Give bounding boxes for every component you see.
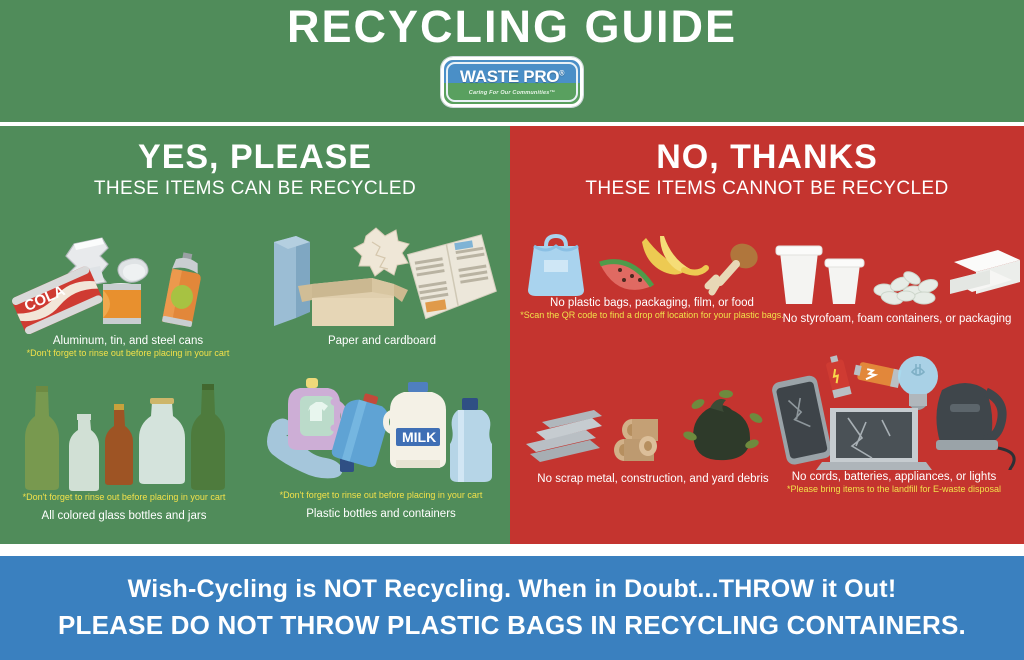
e-waste-note: *Please bring items to the landfill for … xyxy=(766,484,1022,495)
plastic-caption: Plastic bottles and containers xyxy=(256,507,506,521)
yard-waste-bag-icon xyxy=(682,390,764,460)
paper-caption-block: Paper and cardboard xyxy=(262,334,502,348)
plastic-note: *Don't forget to rinse out before placin… xyxy=(256,490,506,501)
tin-can-icon xyxy=(103,258,148,324)
page-title: RECYCLING GUIDE xyxy=(287,4,737,49)
styrofoam-caption: No styrofoam, foam containers, or packag… xyxy=(772,312,1022,326)
bags-food-note: *Scan the QR code to find a drop off loc… xyxy=(516,310,788,321)
crumpled-paper-icon xyxy=(354,228,409,276)
dark-green-bottle-icon xyxy=(191,384,225,490)
plastic-caption-block: *Don't forget to rinse out before placin… xyxy=(256,490,506,522)
glass-caption-block: *Don't forget to rinse out before placin… xyxy=(4,492,244,524)
no-heading: NO, THANKS xyxy=(510,140,1024,176)
banana-peel-icon xyxy=(642,236,706,275)
yes-heading: YES, PLEASE xyxy=(0,140,510,176)
no-item-e-waste: No cords, batteries, appliances, or ligh… xyxy=(766,350,1022,496)
yes-subheading: THESE ITEMS CAN BE RECYCLED xyxy=(0,178,510,200)
cans-note: *Don't forget to rinse out before placin… xyxy=(8,348,248,359)
yes-column-header: YES, PLEASE THESE ITEMS CAN BE RECYCLED xyxy=(0,126,510,200)
main-columns: YES, PLEASE THESE ITEMS CAN BE RECYCLED xyxy=(0,126,1024,544)
column-yes-please: YES, PLEASE THESE ITEMS CAN BE RECYCLED xyxy=(0,126,510,544)
milk-carton-icon xyxy=(274,236,310,326)
logs-icon xyxy=(614,419,658,461)
paper-caption: Paper and cardboard xyxy=(262,334,502,348)
foam-clamshell-icon xyxy=(950,250,1020,294)
battery-red-icon xyxy=(824,354,851,398)
blue-plastic-bottle-icon xyxy=(330,389,394,469)
foam-cup-small-icon xyxy=(825,259,864,304)
no-item-scrap-yard: No scrap metal, construction, and yard d… xyxy=(520,374,786,486)
no-item-bags-food: No plastic bags, packaging, film, or foo… xyxy=(516,230,788,322)
light-bulb-icon xyxy=(898,356,938,410)
scrap-yard-caption-block: No scrap metal, construction, and yard d… xyxy=(520,472,786,486)
newspaper-icon xyxy=(406,234,499,320)
scrap-yard-illustration xyxy=(520,374,786,470)
foam-cup-large-icon xyxy=(776,246,822,304)
watermelon-slice-icon xyxy=(600,262,652,290)
cardboard-box-icon xyxy=(298,278,408,326)
bags-food-caption-block: No plastic bags, packaging, film, or foo… xyxy=(516,296,788,322)
no-subheading: THESE ITEMS CANNOT BE RECYCLED xyxy=(510,178,1024,200)
brown-beer-bottle-icon xyxy=(105,404,133,485)
battery-orange-icon xyxy=(853,361,902,388)
crushed-cola-can-icon: COLA xyxy=(11,265,104,334)
paper-illustration xyxy=(262,222,502,334)
waste-pro-logo: WASTE PRO® Caring For Our Communities™ xyxy=(441,57,583,107)
bags-food-caption: No plastic bags, packaging, film, or foo… xyxy=(516,296,788,310)
banner-line-2: PLEASE DO NOT THROW PLASTIC BAGS IN RECY… xyxy=(58,610,966,641)
green-wine-bottle-icon xyxy=(25,386,59,490)
electric-kettle-icon xyxy=(936,383,1020,470)
milk-jug-icon: MILK xyxy=(386,382,446,468)
yes-item-cans: COLA xyxy=(8,222,248,360)
yes-item-paper: Paper and cardboard xyxy=(262,222,502,348)
spray-can-icon xyxy=(162,251,205,327)
styrofoam-caption-block: No styrofoam, foam containers, or packag… xyxy=(772,312,1022,326)
e-waste-caption: No cords, batteries, appliances, or ligh… xyxy=(766,470,1022,484)
chicken-drumstick-icon xyxy=(708,239,762,292)
logo-wordmark: WASTE PRO® xyxy=(460,68,564,85)
no-item-styrofoam: No styrofoam, foam containers, or packag… xyxy=(772,234,1022,326)
scrap-yard-caption: No scrap metal, construction, and yard d… xyxy=(520,472,786,486)
clear-bottle-icon xyxy=(69,414,99,491)
poster-header: RECYCLING GUIDE WASTE PRO® Caring For Ou… xyxy=(0,0,1024,122)
cans-illustration: COLA xyxy=(8,222,248,334)
banner-line-1: Wish-Cycling is NOT Recycling. When in D… xyxy=(128,575,897,604)
cracked-phone-icon xyxy=(771,374,833,466)
glass-milk-bottle-icon xyxy=(139,398,185,484)
scrap-metal-icon xyxy=(526,410,602,462)
milk-label: MILK xyxy=(402,429,436,445)
cans-caption-block: Aluminum, tin, and steel cans *Don't for… xyxy=(8,334,248,360)
packing-peanuts-icon xyxy=(874,269,939,306)
plastic-illustration: MILK xyxy=(256,372,506,490)
plastic-bag-icon xyxy=(528,236,584,296)
glass-caption: All colored glass bottles and jars xyxy=(4,509,244,523)
no-column-header: NO, THANKS THESE ITEMS CANNOT BE RECYCLE… xyxy=(510,126,1024,200)
yes-item-plastic: MILK *Don't forget to rinse out before p… xyxy=(256,372,506,522)
e-waste-caption-block: No cords, batteries, appliances, or ligh… xyxy=(766,470,1022,496)
styrofoam-illustration xyxy=(772,234,1022,312)
bottom-banner: Wish-Cycling is NOT Recycling. When in D… xyxy=(0,556,1024,660)
cans-caption: Aluminum, tin, and steel cans xyxy=(8,334,248,348)
logo-tagline: Caring For Our Communities™ xyxy=(469,90,555,96)
recycling-guide-poster: RECYCLING GUIDE WASTE PRO® Caring For Ou… xyxy=(0,0,1024,660)
logo-registered-mark: ® xyxy=(559,70,564,77)
bags-food-illustration xyxy=(516,230,788,296)
glass-note: *Don't forget to rinse out before placin… xyxy=(4,492,244,503)
column-no-thanks: NO, THANKS THESE ITEMS CANNOT BE RECYCLE… xyxy=(510,126,1024,544)
cracked-laptop-icon xyxy=(816,408,932,470)
yes-item-glass: *Don't forget to rinse out before placin… xyxy=(4,384,244,524)
glass-bottles-illustration xyxy=(4,384,244,492)
water-bottle-icon xyxy=(450,398,492,482)
e-waste-illustration xyxy=(766,350,1022,470)
